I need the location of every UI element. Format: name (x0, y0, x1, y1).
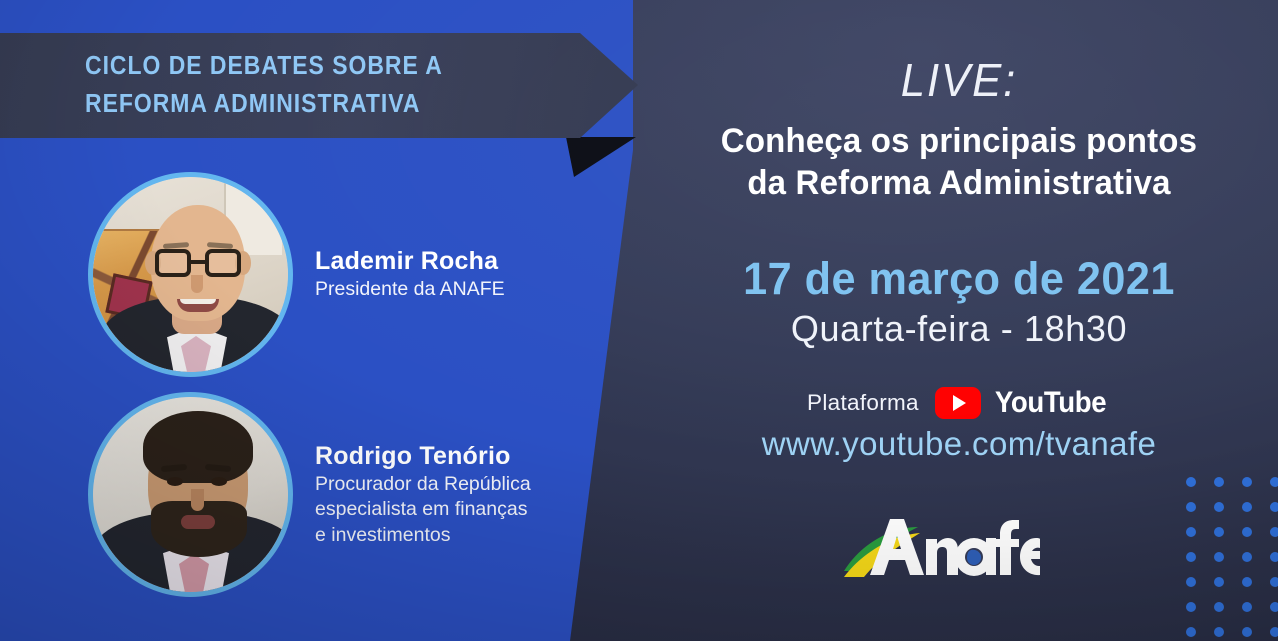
speaker-name: Lademir Rocha (315, 246, 505, 277)
ribbon-title: CICLO DE DEBATES SOBRE A REFORMA ADMINIS… (85, 47, 517, 123)
portrait-eye-left (167, 477, 183, 486)
speaker-text: Rodrigo Tenório Procurador da República … (315, 441, 531, 549)
speaker-name: Rodrigo Tenório (315, 441, 531, 472)
portrait-nose (191, 275, 203, 293)
logo-letter-e (1020, 538, 1040, 575)
speaker-role: Presidente da ANAFE (315, 277, 505, 303)
event-weekday-time: Quarta-feira - 18h30 (640, 308, 1278, 350)
logo-letter-n (926, 538, 958, 575)
portrait-mouth (181, 515, 215, 529)
portrait-eye-right (211, 477, 227, 486)
anafe-logo (840, 505, 1040, 585)
speaker-card-lademir-rocha: Lademir Rocha Presidente da ANAFE (88, 172, 505, 377)
platform-label: Plataforma (807, 390, 919, 416)
speaker-role: Procurador da República especialista em … (315, 472, 531, 549)
portrait-lademir-rocha (93, 177, 288, 372)
portrait-hair (143, 411, 253, 483)
portrait-nose (191, 489, 204, 511)
event-poster: CICLO DE DEBATES SOBRE A REFORMA ADMINIS… (0, 0, 1278, 641)
dot-grid-decoration (1186, 477, 1278, 637)
speaker-card-rodrigo-tenorio: Rodrigo Tenório Procurador da República … (88, 392, 531, 597)
anafe-logo-svg (840, 505, 1040, 585)
event-date: 17 de março de 2021 (653, 253, 1265, 305)
portrait-eyeglasses (155, 249, 241, 277)
platform-row: Plataforma YouTube (640, 386, 1278, 420)
avatar (88, 172, 293, 377)
speaker-text: Lademir Rocha Presidente da ANAFE (315, 246, 505, 303)
youtube-wordmark: YouTube (995, 386, 1106, 420)
event-headline: Conheça os principais pontos da Reforma … (650, 120, 1269, 204)
youtube-play-icon (935, 387, 981, 419)
channel-url[interactable]: www.youtube.com/tvanafe (640, 425, 1278, 463)
portrait-mouth (177, 299, 219, 312)
avatar (88, 392, 293, 597)
portrait-rodrigo-tenorio (93, 397, 288, 592)
logo-letter-a-stem (986, 538, 996, 575)
live-label: LIVE: (656, 53, 1262, 107)
logo-letter-f (995, 520, 1019, 575)
youtube-logo: YouTube (935, 386, 1111, 420)
